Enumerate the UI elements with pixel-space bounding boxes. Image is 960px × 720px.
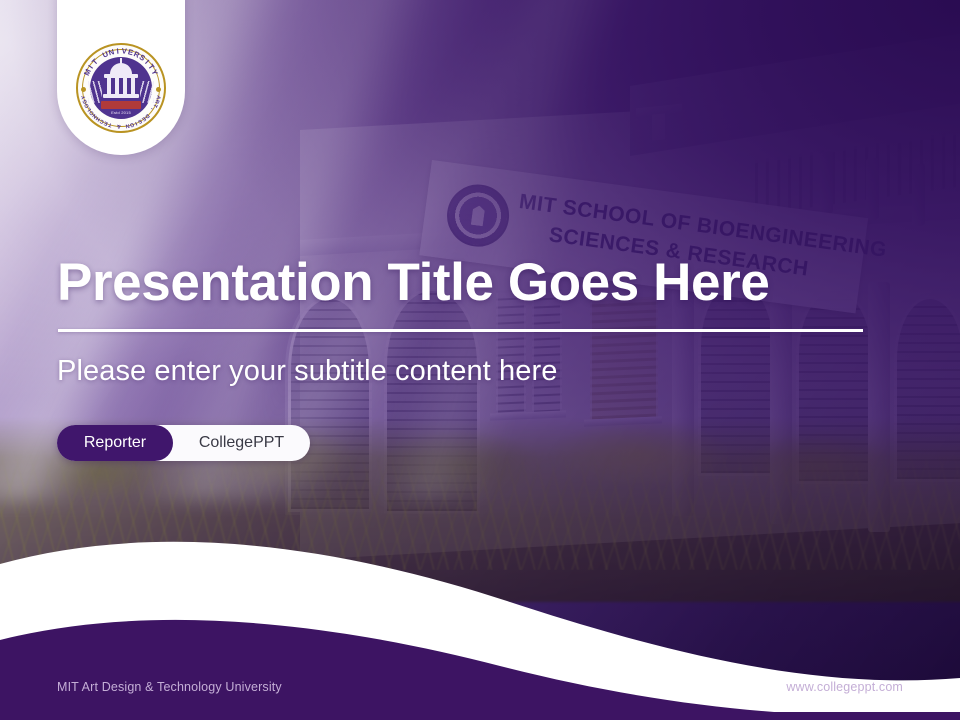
seal-bottom-text: ART, DESIGN & TECHNOLOGY: [76, 43, 166, 133]
presentation-slide: MIT SCHOOL OF BIOENGINEERING SCIENCES & …: [0, 0, 960, 720]
page-subtitle: Please enter your subtitle content here: [57, 355, 557, 388]
footer-website-url[interactable]: www.collegeppt.com: [786, 680, 903, 694]
university-seal-logo: Estd 2015 MIT UNIVERSITY ART, DESIGN & T…: [76, 43, 166, 133]
title-divider: [58, 329, 863, 332]
page-title: Presentation Title Goes Here: [57, 252, 769, 313]
footer-university-name: MIT Art Design & Technology University: [57, 680, 282, 694]
footer-bar-fill: [0, 712, 960, 720]
reporter-badge[interactable]: Reporter CollegePPT: [57, 425, 310, 461]
reporter-value: CollegePPT: [173, 425, 310, 461]
logo-tab: Estd 2015 MIT UNIVERSITY ART, DESIGN & T…: [57, 0, 185, 155]
reporter-label: Reporter: [57, 425, 173, 461]
